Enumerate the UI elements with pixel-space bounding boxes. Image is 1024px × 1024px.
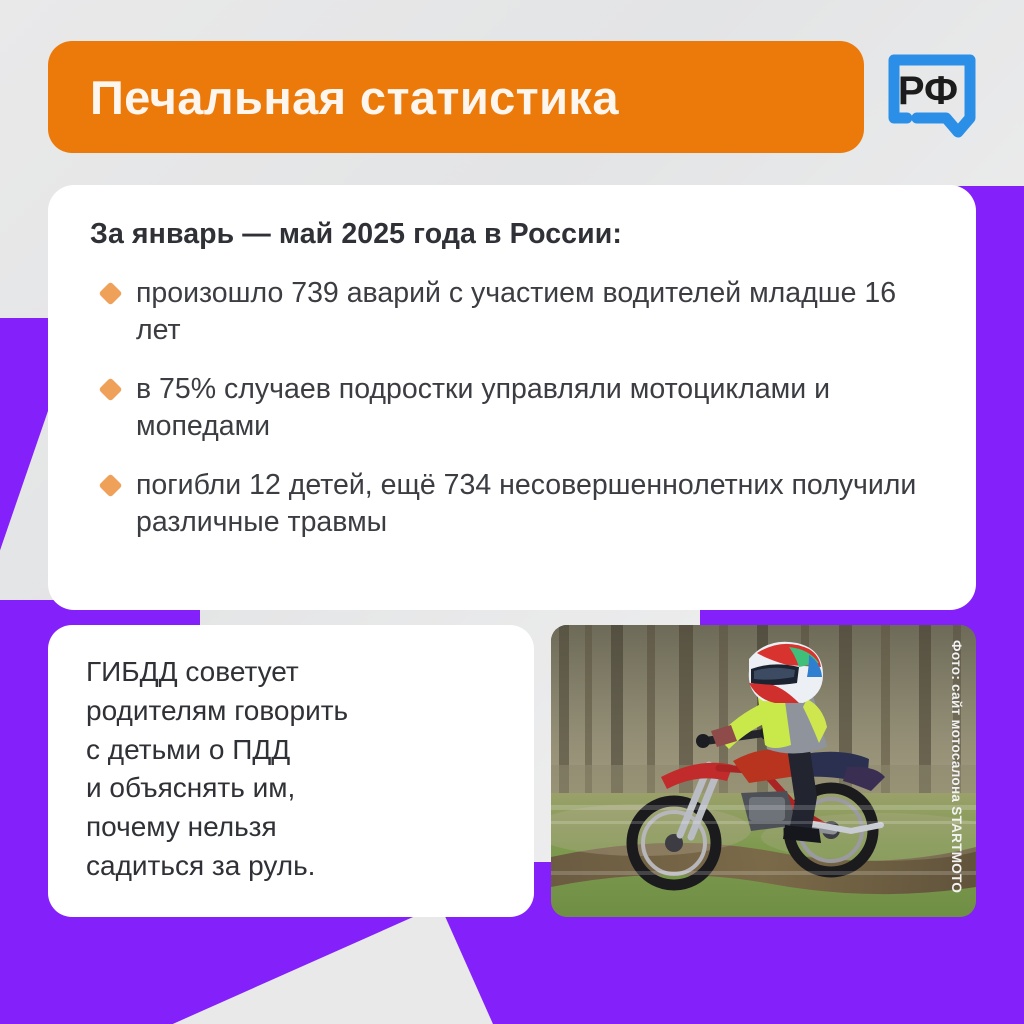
- list-item: произошло 739 аварий с участием водителе…: [90, 275, 934, 349]
- advice-card: ГИБДД советует родителям говорить с деть…: [48, 625, 534, 917]
- list-item-label: погибли 12 детей, ещё 734 несовершенноле…: [136, 467, 926, 541]
- svg-text:РФ: РФ: [898, 69, 958, 113]
- photo-credit: Фото: сайт мотосалона STARTMOTO: [942, 640, 964, 940]
- header-banner: Печальная статистика: [48, 41, 864, 153]
- diamond-bullet-icon: [98, 378, 122, 402]
- diamond-bullet-icon: [98, 281, 122, 305]
- list-item-label: в 75% случаев подростки управляли мотоци…: [136, 371, 926, 445]
- diamond-bullet-icon: [98, 474, 122, 498]
- statistics-heading: За январь — май 2025 года в России:: [90, 218, 934, 251]
- list-item: погибли 12 детей, ещё 734 несовершенноле…: [90, 467, 934, 541]
- photo-dirt-bike-rider: [551, 625, 976, 917]
- page-title: Печальная статистика: [90, 70, 619, 125]
- advice-text: ГИБДД советует родителям говорить с деть…: [86, 653, 534, 886]
- statistics-list: произошло 739 аварий с участием водителе…: [90, 275, 934, 541]
- photo-illustration: [551, 625, 976, 917]
- list-item: в 75% случаев подростки управляли мотоци…: [90, 371, 934, 445]
- list-item-label: произошло 739 аварий с участием водителе…: [136, 275, 926, 349]
- statistics-card: За январь — май 2025 года в России: прои…: [48, 185, 976, 610]
- rf-logo: РФ: [884, 46, 980, 146]
- rf-logo-icon: РФ: [884, 46, 980, 146]
- infographic-poster: Печальная статистика РФ За январь — май …: [0, 0, 1024, 1024]
